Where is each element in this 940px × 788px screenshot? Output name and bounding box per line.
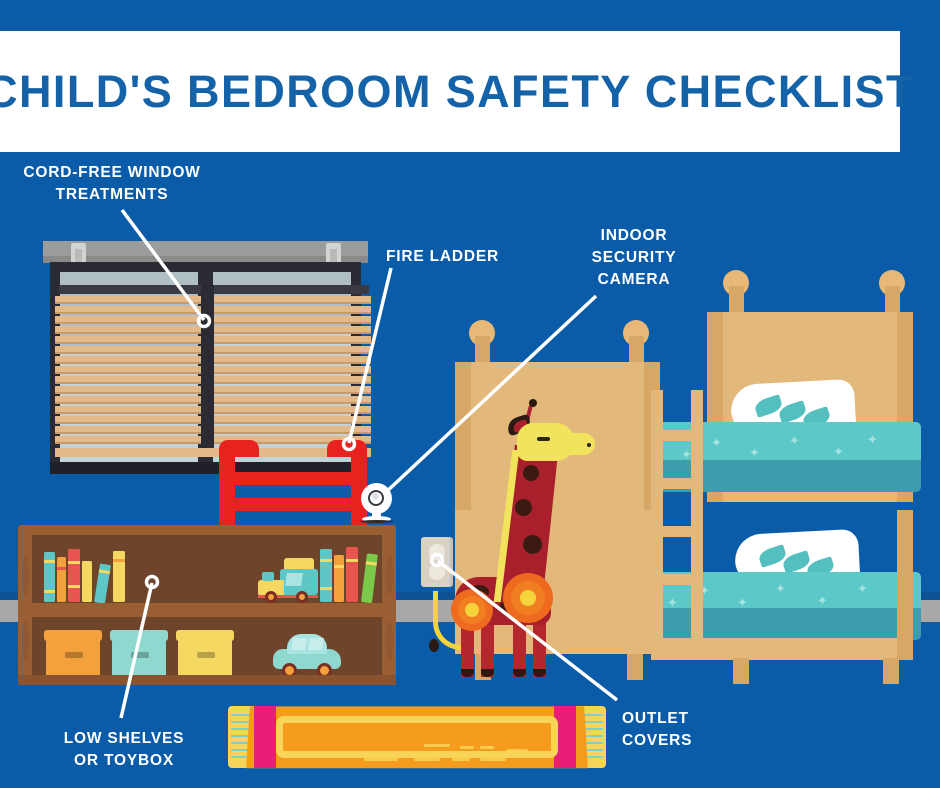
security-camera [359,483,394,523]
page-title: CHILD'S BEDROOM SAFETY CHECKLIST [0,66,915,118]
ladder-rung [235,472,353,485]
callout-label-low-shelves-or-toybox: LOW SHELVES OR TOYBOX [24,728,224,772]
shelf-divider [32,603,382,617]
book [320,549,332,602]
book [82,561,92,602]
pull-cord-handle [429,639,439,652]
giraffe-nostril [587,443,591,447]
toy-train [258,558,320,602]
bed-leg [733,658,749,684]
fire-ladder [219,440,359,530]
book [57,557,66,602]
storage-box [112,630,166,675]
outlet-socket [429,564,445,580]
callout-label-cord-free-window-treatments: CORD-FREE WINDOW TREATMENTS [12,162,212,206]
bookshelf [18,525,396,685]
book [334,555,344,602]
callout-label-fire-ladder: FIRE LADDER [386,246,506,268]
giraffe-pull-toy [455,395,605,665]
book [113,551,125,602]
shelf-base [18,675,396,685]
title-banner: CHILD'S BEDROOM SAFETY CHECKLIST [0,31,900,152]
blind-center-post [201,285,214,457]
infographic-poster: CHILD'S BEDROOM SAFETY CHECKLIST [0,0,940,788]
rug-accent-left [254,706,276,768]
blind-headrail [59,285,369,294]
giraffe-leg [513,617,526,677]
bed-leg [883,658,899,684]
ladder-rung [235,498,353,511]
storage-box [46,630,100,675]
callout-label-outlet-covers: OUTLET COVERS [622,708,752,752]
giraffe-eye [537,437,550,441]
blinds [55,285,371,457]
book [68,549,80,602]
outlet-cover [421,537,453,587]
bed-leg [627,654,643,680]
lower-bunk-mattress [635,608,921,640]
book [346,547,358,602]
bunk-ladder-step [651,526,703,537]
area-rug [228,706,606,768]
book [44,552,55,602]
callout-label-indoor-security-camera: INDOOR SECURITY CAMERA [574,225,694,291]
bunk-ladder-step [651,478,703,489]
giraffe-leg [533,617,546,677]
camera-shadow [360,520,393,523]
outlet-socket [429,544,445,560]
storage-box [178,630,232,675]
toy-car [273,633,341,675]
bunk-ladder-step [651,430,703,441]
camera-lens-glint [372,493,379,500]
bunk-ladder-step [651,574,703,585]
